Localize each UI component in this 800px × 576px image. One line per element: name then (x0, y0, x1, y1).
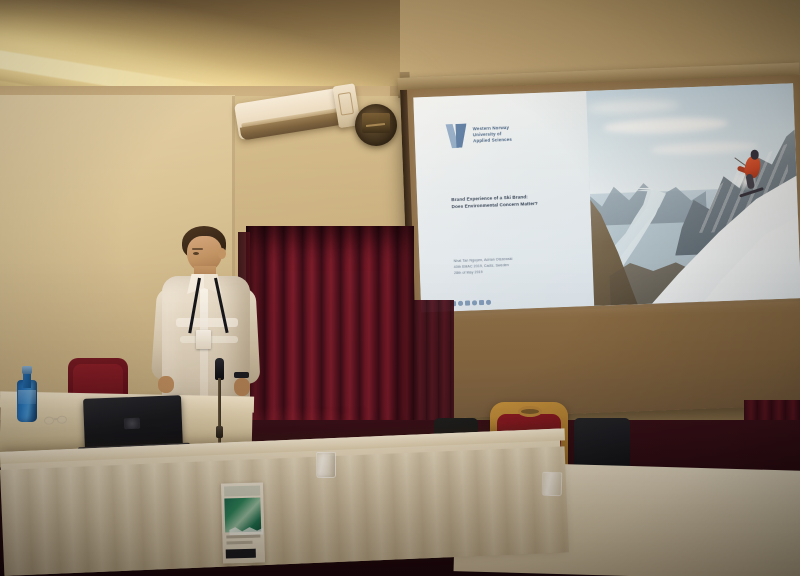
microphone-icon[interactable] (215, 358, 224, 380)
microphone-joint[interactable] (216, 426, 223, 438)
presenter-brow (192, 248, 203, 250)
conference-sign-artwork (224, 498, 261, 533)
presenter-ear (218, 248, 226, 259)
name-badge (196, 330, 211, 349)
twitter-icon (458, 301, 463, 306)
laptop-logo (124, 418, 140, 430)
bottle-cap (22, 366, 32, 374)
skier-icon (735, 149, 770, 193)
rss-icon (486, 300, 491, 305)
conference-sign-text-2 (226, 541, 252, 545)
wall-clock-icon (355, 104, 397, 146)
screen-unlit-area (415, 301, 800, 420)
presenter-right-hand (234, 378, 250, 396)
logo-v-right (455, 123, 467, 147)
drinking-glass-2[interactable] (542, 472, 563, 497)
eyeglasses-lens-left (44, 416, 55, 425)
presenter-left-hand (158, 376, 174, 393)
logo-v-mark-icon (449, 123, 469, 148)
conference-sign-header (224, 486, 260, 497)
projection-screen: Western Norway University of Applied Sci… (400, 75, 800, 420)
youtube-icon (479, 300, 484, 305)
conference-room-scene: Western Norway University of Applied Sci… (0, 0, 800, 576)
conference-sign-text-1 (226, 535, 260, 539)
presenter-eye (193, 252, 199, 255)
drinking-glass-1[interactable] (316, 452, 336, 478)
conference-sign-bar (226, 549, 256, 559)
eyeglasses-icon[interactable] (44, 414, 73, 426)
presentation-slide: Western Norway University of Applied Sci… (413, 83, 800, 312)
logo-text: Western Norway University of Applied Sci… (473, 124, 512, 144)
instagram-icon (465, 301, 470, 306)
water-bottle[interactable] (17, 366, 37, 422)
logo-line-3: Applied Sciences (473, 137, 512, 145)
linkedin-icon (472, 301, 477, 306)
chair-handle-cutout (518, 406, 542, 417)
conference-sign (221, 482, 265, 563)
skier-head (750, 150, 759, 160)
bottle-label (18, 390, 36, 404)
bottle-neck (23, 372, 31, 388)
eyeglasses-lens-right (57, 415, 68, 424)
university-logo: Western Norway University of Applied Sci… (449, 122, 513, 148)
